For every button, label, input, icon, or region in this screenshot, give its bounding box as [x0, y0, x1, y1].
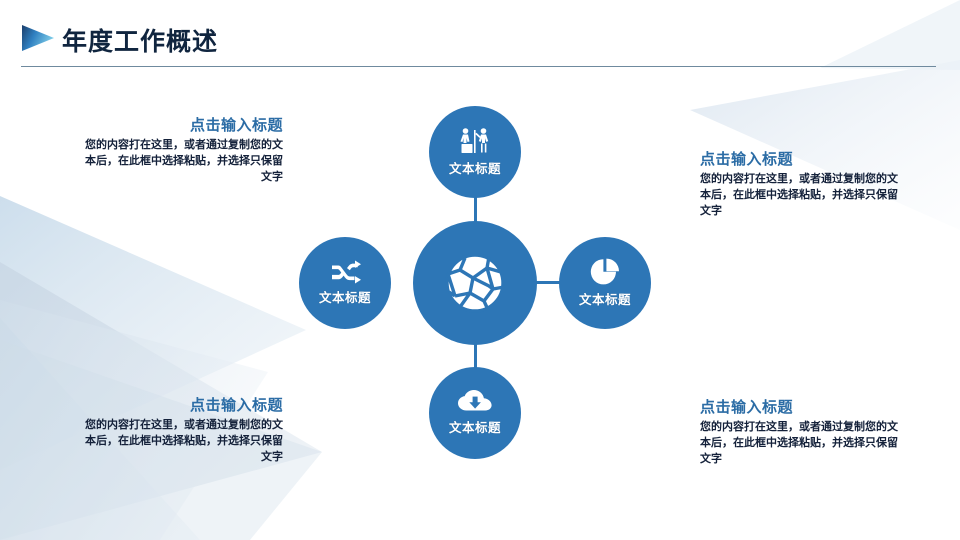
- diagram-node-bottom[interactable]: 文本标题: [429, 367, 521, 459]
- diagram-node-label: 文本标题: [319, 287, 371, 306]
- presentation-meeting-icon: [458, 127, 492, 155]
- connector-center-top: [474, 196, 477, 224]
- text-block-body: 您的内容打在这里，或者通过复制您的文本后，在此框中选择粘贴，并选择只保留文字: [700, 172, 905, 220]
- text-block-body: 您的内容打在这里，或者通过复制您的文本后，在此框中选择粘贴，并选择只保留文字: [78, 418, 283, 466]
- cloud-download-icon: [458, 390, 492, 414]
- pie-chart-icon: [590, 258, 620, 286]
- text-block-heading: 点击输入标题: [700, 396, 905, 417]
- text-block-top-right: 点击输入标题 您的内容打在这里，或者通过复制您的文本后，在此框中选择粘贴，并选择…: [700, 148, 905, 220]
- diagram-node-label: 文本标题: [579, 289, 631, 308]
- text-block-bottom-left: 点击输入标题 您的内容打在这里，或者通过复制您的文本后，在此框中选择粘贴，并选择…: [78, 394, 283, 466]
- diagram-node-left[interactable]: 文本标题: [299, 237, 391, 329]
- diagram-center-node[interactable]: [413, 221, 537, 345]
- connector-center-bottom: [474, 343, 477, 370]
- diagram-node-label: 文本标题: [449, 158, 501, 177]
- text-block-body: 您的内容打在这里，或者通过复制您的文本后，在此框中选择粘贴，并选择只保留文字: [700, 420, 905, 468]
- text-block-top-left: 点击输入标题 您的内容打在这里，或者通过复制您的文本后，在此框中选择粘贴，并选择…: [78, 114, 283, 186]
- diagram-node-top[interactable]: 文本标题: [429, 106, 521, 198]
- shuffle-arrows-icon: [329, 260, 361, 284]
- slide-canvas: 年度工作概述: [0, 0, 960, 540]
- diagram-node-right[interactable]: 文本标题: [559, 237, 651, 329]
- diagram-node-label: 文本标题: [449, 417, 501, 436]
- text-block-body: 您的内容打在这里，或者通过复制您的文本后，在此框中选择粘贴，并选择只保留文字: [78, 138, 283, 186]
- globe-network-icon: [443, 251, 507, 315]
- text-block-bottom-right: 点击输入标题 您的内容打在这里，或者通过复制您的文本后，在此框中选择粘贴，并选择…: [700, 396, 905, 468]
- text-block-heading: 点击输入标题: [78, 114, 283, 135]
- text-block-heading: 点击输入标题: [700, 148, 905, 169]
- text-block-heading: 点击输入标题: [78, 394, 283, 415]
- connector-center-right: [534, 281, 562, 284]
